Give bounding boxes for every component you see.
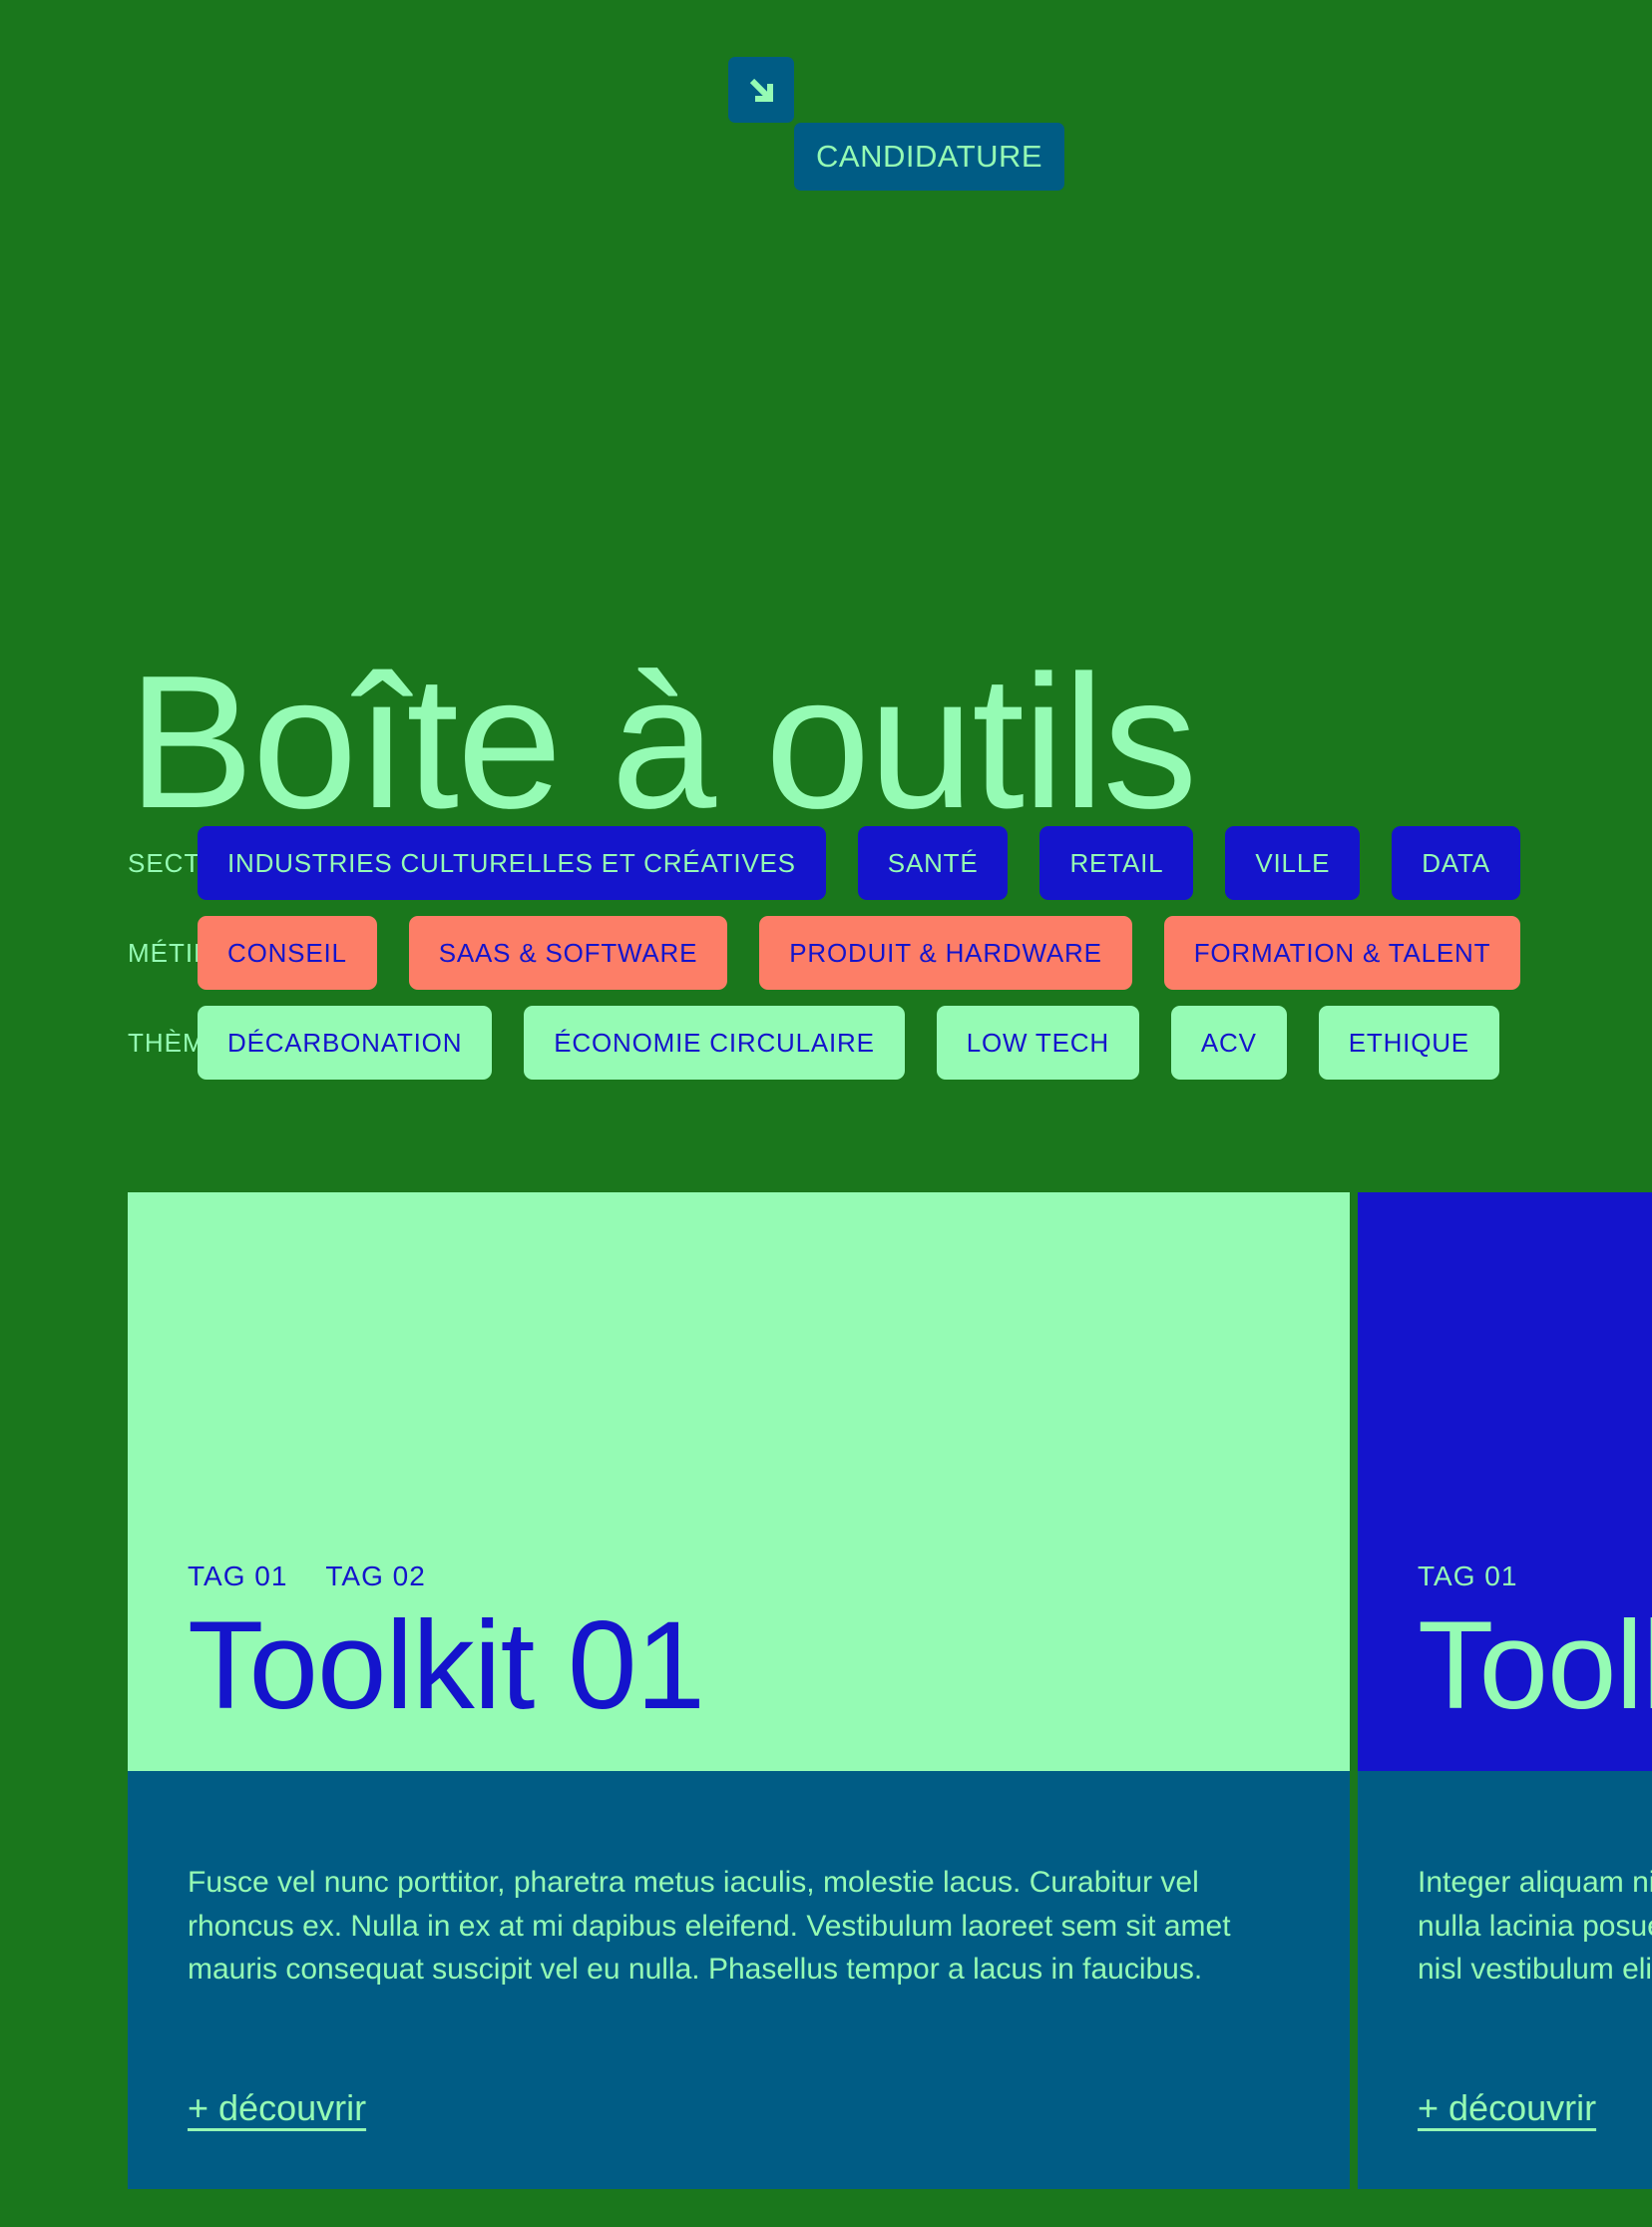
toolkit-card-tags: TAG 01 [1418, 1560, 1652, 1592]
toolkit-card-body: Fusce vel nunc porttitor, pharetra metus… [128, 1771, 1350, 2189]
filter-chip-secteurs-1[interactable]: SANTÉ [858, 826, 1009, 900]
filter-chip-secteurs-2[interactable]: RETAIL [1039, 826, 1193, 900]
candidature-button[interactable]: CANDIDATURE [794, 123, 1064, 191]
toolkit-card-discover-link[interactable]: + découvrir [1418, 2087, 1596, 2129]
filter-label-themes: THÈMES [0, 1028, 198, 1059]
toolkit-card-list: TAG 01TAG 02 Toolkit 01 Fusce vel nunc p… [128, 1192, 1652, 2189]
toolkit-card-description: Integer aliquam nisl sit amet lorem tinc… [1418, 1861, 1652, 1992]
filter-panel: SECTEURS INDUSTRIES CULTURELLES ET CRÉAT… [0, 818, 1652, 1088]
filter-label-metiers: MÉTIERS [0, 938, 198, 969]
candidature-label: CANDIDATURE [816, 139, 1042, 175]
toolkit-card-title: Toolkit 02 [1418, 1600, 1652, 1731]
filter-row-secteurs: SECTEURS INDUSTRIES CULTURELLES ET CRÉAT… [0, 818, 1652, 908]
filter-chip-themes-2[interactable]: LOW TECH [937, 1006, 1139, 1080]
toolkit-card-header: TAG 01 Toolkit 02 [1358, 1192, 1652, 1771]
arrow-down-right-icon [743, 72, 779, 108]
filter-chip-metiers-1[interactable]: SAAS & SOFTWARE [409, 916, 728, 990]
toolkit-card-discover-link[interactable]: + découvrir [188, 2087, 366, 2129]
filter-chip-secteurs-0[interactable]: INDUSTRIES CULTURELLES ET CRÉATIVES [198, 826, 826, 900]
filter-row-themes: THÈMES DÉCARBONATION ÉCONOMIE CIRCULAIRE… [0, 998, 1652, 1088]
toolkit-card[interactable]: TAG 01 Toolkit 02 Integer aliquam nisl s… [1358, 1192, 1652, 2189]
toolkit-card-tag: TAG 02 [325, 1560, 425, 1591]
topbar: CANDIDATURE [0, 0, 1652, 210]
toolkit-card-description: Fusce vel nunc porttitor, pharetra metus… [188, 1861, 1265, 1992]
toolkit-card[interactable]: TAG 01TAG 02 Toolkit 01 Fusce vel nunc p… [128, 1192, 1350, 2189]
toolkit-card-header: TAG 01TAG 02 Toolkit 01 [128, 1192, 1350, 1771]
filter-chip-themes-0[interactable]: DÉCARBONATION [198, 1006, 492, 1080]
filter-chip-secteurs-3[interactable]: VILLE [1225, 826, 1360, 900]
toolkit-card-title: Toolkit 01 [188, 1600, 1350, 1731]
filter-chip-metiers-0[interactable]: CONSEIL [198, 916, 377, 990]
toolkit-card-tag: TAG 01 [1418, 1560, 1517, 1591]
toolkit-card-tags: TAG 01TAG 02 [188, 1560, 1350, 1592]
filter-chip-metiers-3[interactable]: FORMATION & TALENT [1164, 916, 1521, 990]
filter-chip-secteurs-4[interactable]: DATA [1392, 826, 1520, 900]
filter-label-secteurs: SECTEURS [0, 848, 198, 879]
toolkit-card-tag: TAG 01 [188, 1560, 287, 1591]
filter-chip-themes-4[interactable]: ETHIQUE [1319, 1006, 1499, 1080]
toolkit-card-body: Integer aliquam nisl sit amet lorem tinc… [1358, 1771, 1652, 2189]
page-title: Boîte à outils [128, 653, 1195, 833]
filter-chip-metiers-2[interactable]: PRODUIT & HARDWARE [759, 916, 1131, 990]
filter-row-metiers: MÉTIERS CONSEIL SAAS & SOFTWARE PRODUIT … [0, 908, 1652, 998]
filter-chip-themes-1[interactable]: ÉCONOMIE CIRCULAIRE [524, 1006, 904, 1080]
filter-chip-themes-3[interactable]: ACV [1171, 1006, 1287, 1080]
arrow-down-right-button[interactable] [728, 57, 794, 123]
